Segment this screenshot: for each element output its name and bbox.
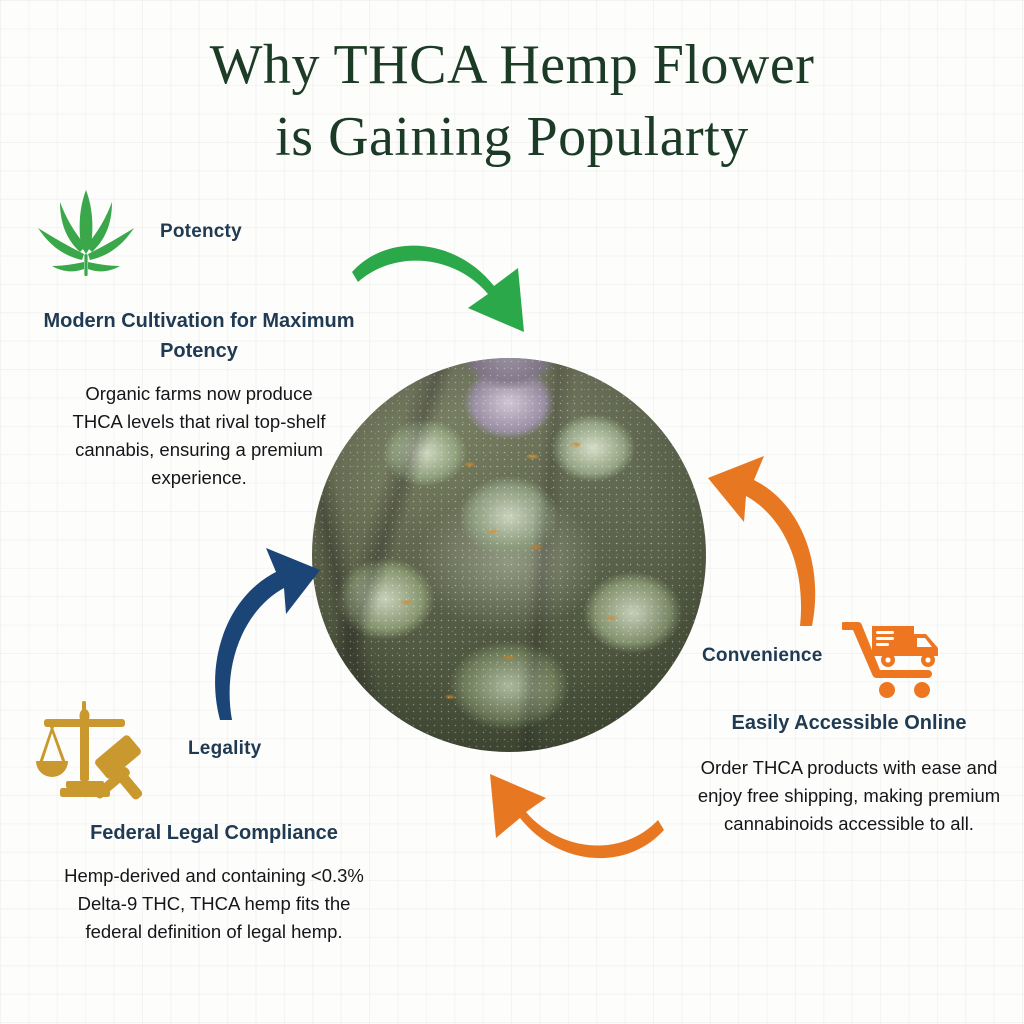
scales-of-justice-gavel-icon xyxy=(34,697,158,801)
convenience-header-row: Convenience xyxy=(690,612,1008,700)
potency-body-text: Organic farms now produce THCA levels th… xyxy=(34,380,364,492)
potency-header-row: Potencty xyxy=(34,186,364,278)
arrow-orange-bottom-icon xyxy=(466,772,666,882)
shopping-cart-delivery-truck-icon xyxy=(842,612,946,700)
hemp-flower-photo-clip xyxy=(312,358,706,752)
cannabis-leaf-icon xyxy=(34,184,138,280)
convenience-body-text: Order THCA products with ease and enjoy … xyxy=(690,754,1008,838)
page-title-line-2: is Gaining Popularty xyxy=(0,102,1024,174)
arrow-green-top-icon xyxy=(348,224,548,334)
convenience-kicker-label: Convenience xyxy=(702,645,822,667)
legality-header-row: Legality xyxy=(34,694,394,804)
legality-subheading: Federal Legal Compliance xyxy=(34,818,394,848)
potency-subheading: Modern Cultivation for Maximum Potency xyxy=(34,306,364,366)
legality-kicker-label: Legality xyxy=(188,738,261,760)
page-title-line-1: Why THCA Hemp Flower xyxy=(0,30,1024,102)
arrow-orange-right-icon xyxy=(706,448,836,628)
potency-kicker-label: Potencty xyxy=(160,221,242,243)
section-convenience: Convenience xyxy=(690,612,1008,838)
photo-vignette xyxy=(312,358,706,752)
page-title: Why THCA Hemp Flower is Gaining Populart… xyxy=(0,30,1024,173)
convenience-subheading: Easily Accessible Online xyxy=(690,708,1008,738)
section-potency: Potencty Modern Cultivation for Maximum … xyxy=(34,186,364,492)
center-hemp-flower-image xyxy=(312,358,706,752)
section-legality: Legality Federal Legal Compliance Hemp-d… xyxy=(34,694,394,946)
legality-body-text: Hemp-derived and containing <0.3% Delta-… xyxy=(34,862,394,946)
infographic-canvas: Why THCA Hemp Flower is Gaining Populart… xyxy=(0,0,1024,1024)
